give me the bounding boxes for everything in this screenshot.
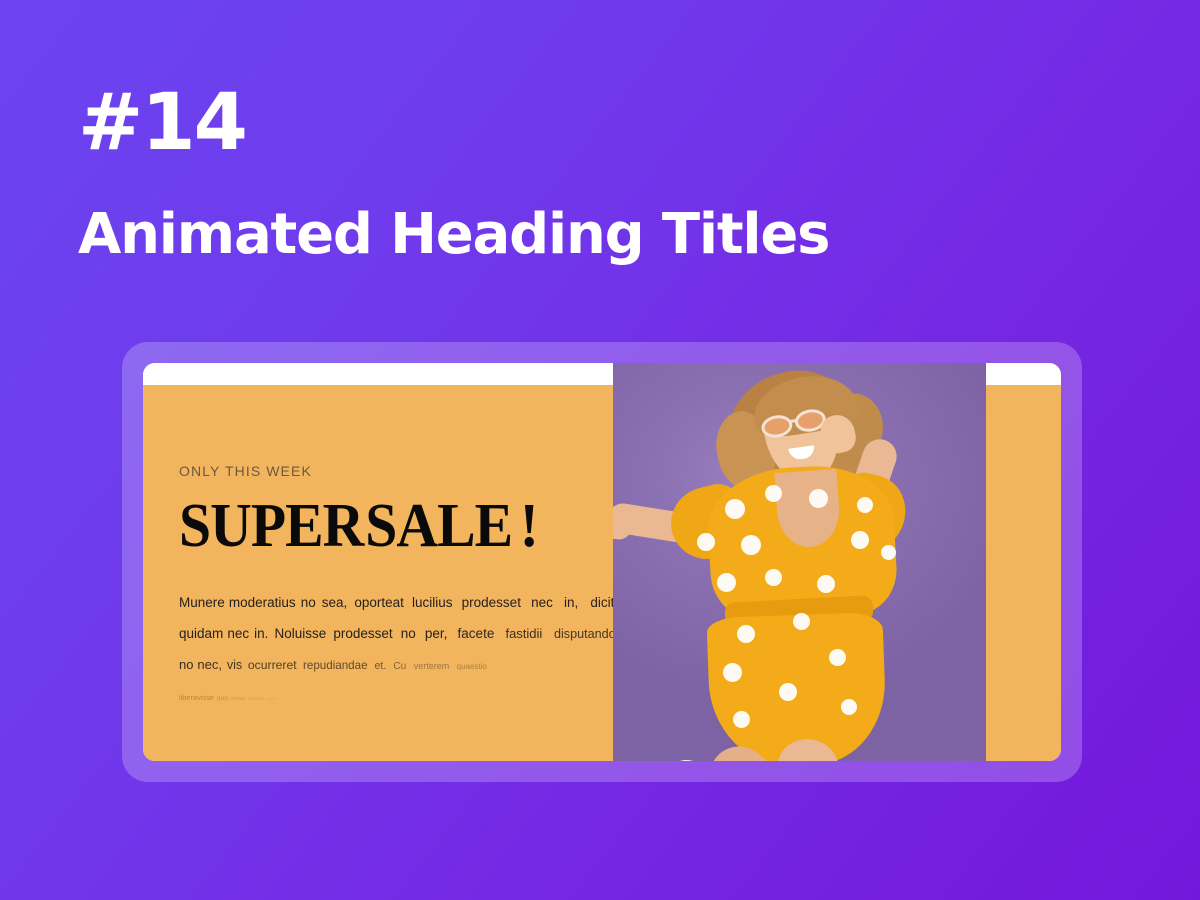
slide-eyebrow: ONLY THIS WEEK [179, 463, 581, 479]
polka-dot [737, 625, 755, 643]
polka-dot [841, 699, 857, 715]
paragraph-line: liberavisse quo erpas omnium lorem [179, 683, 579, 714]
word-gap [521, 595, 531, 621]
romper-skirt [706, 612, 887, 761]
polka-dot [793, 613, 810, 630]
polka-dot [741, 535, 761, 555]
slide-headline: SUPERSALE! [179, 497, 553, 556]
word-gap [553, 595, 564, 621]
paragraph-word: no [301, 590, 316, 616]
paragraph-word: facete [458, 621, 495, 647]
woman-figure [613, 363, 986, 761]
paragraph-word: Munere [179, 590, 225, 616]
paragraph-word: oporteat [354, 590, 404, 616]
word-gap [347, 595, 354, 621]
paragraph-word: quaestio [457, 654, 487, 680]
headline-word-2: SALE [365, 497, 512, 556]
slider-viewport[interactable]: ONLY THIS WEEK SUPERSALE! Munere moderat… [143, 363, 1061, 761]
polka-dot [765, 485, 782, 502]
paragraph-word: prodesset [333, 621, 392, 647]
paragraph-word: nec [531, 590, 553, 616]
slide-super-sale[interactable]: ONLY THIS WEEK SUPERSALE! Munere moderat… [143, 363, 613, 761]
polka-dot [723, 663, 742, 682]
polka-dot [881, 545, 896, 560]
paragraph-word: dicit [590, 590, 614, 616]
slide-next-peek[interactable] [986, 363, 1061, 761]
word-gap [542, 626, 554, 652]
paragraph-word: prodesset [462, 590, 521, 616]
paragraph-word: nec, [197, 652, 222, 678]
paragraph-word: no [179, 652, 193, 678]
polka-dot [717, 573, 736, 592]
paragraph-word: lucilius [412, 590, 453, 616]
word-gap [386, 657, 393, 683]
word-gap [393, 626, 401, 652]
paragraph-word: in, [564, 590, 578, 616]
paragraph-line: quidam nec in. Noluisse prodesset no per… [179, 621, 579, 652]
headline-word-1: SUPER [179, 497, 363, 556]
paragraph-line: Munere moderatius no sea, oporteat lucil… [179, 590, 579, 621]
paragraph-word: erpas [231, 686, 245, 712]
paragraph-word: omnium [248, 686, 264, 712]
polka-dot [857, 497, 873, 513]
word-gap [416, 626, 425, 652]
paragraph-word: repudiandae [303, 653, 367, 679]
polka-dot [725, 499, 745, 519]
polka-dot [765, 569, 782, 586]
word-gap [578, 595, 590, 621]
page-title: Animated Heading Titles [78, 206, 1078, 265]
paragraph-word: sea, [322, 590, 348, 616]
polka-dot [697, 533, 715, 551]
paragraph-word: quidam [179, 621, 223, 647]
word-gap [449, 657, 456, 683]
paragraph-word: per, [425, 621, 448, 647]
heading-block: #14 Animated Heading Titles [78, 86, 1078, 265]
polka-dot [851, 531, 869, 549]
paragraph-line: no nec, vis ocurreret repudiandae et. Cu… [179, 652, 579, 683]
paragraph-word: Cu [393, 654, 406, 680]
polka-dot [733, 711, 750, 728]
slider-card-frame: ONLY THIS WEEK SUPERSALE! Munere moderat… [122, 342, 1082, 782]
photo-illustration [613, 363, 986, 761]
word-gap [326, 626, 333, 652]
paragraph-word: nec [227, 621, 249, 647]
word-gap [494, 626, 505, 652]
paragraph-word: no [401, 621, 416, 647]
polka-dot [809, 489, 828, 508]
word-gap [447, 626, 457, 652]
word-gap [404, 595, 412, 621]
paragraph-word: lorem [267, 686, 276, 712]
paragraph-word: Noluisse [275, 621, 327, 647]
paragraph-word: in. [254, 621, 268, 647]
word-gap [453, 595, 462, 621]
paragraph-word: liberavisse [179, 685, 214, 711]
paragraph-word: verterem [414, 653, 450, 679]
slide-photo[interactable] [613, 363, 986, 761]
slide-canvas: #14 Animated Heading Titles ONLY THIS WE… [0, 0, 1200, 900]
polka-dot [817, 575, 835, 593]
slide-paragraph: Munere moderatius no sea, oporteat lucil… [179, 590, 579, 714]
headline-word-3: ! [520, 497, 538, 556]
paragraph-word: disputando [554, 621, 616, 647]
paragraph-word: quo [217, 686, 228, 712]
word-gap [406, 657, 414, 683]
polka-dot [829, 649, 846, 666]
slide-copy: ONLY THIS WEEK SUPERSALE! Munere moderat… [179, 463, 581, 714]
page-number: #14 [78, 86, 1078, 160]
paragraph-word: fastidii [505, 621, 542, 647]
slide-background [986, 385, 1061, 761]
paragraph-word: moderatius [229, 590, 296, 616]
paragraph-word: ocurreret [248, 652, 297, 678]
paragraph-word: et. [374, 653, 386, 679]
paragraph-word: vis [227, 652, 242, 678]
word-gap [368, 657, 375, 683]
polka-dot [779, 683, 797, 701]
